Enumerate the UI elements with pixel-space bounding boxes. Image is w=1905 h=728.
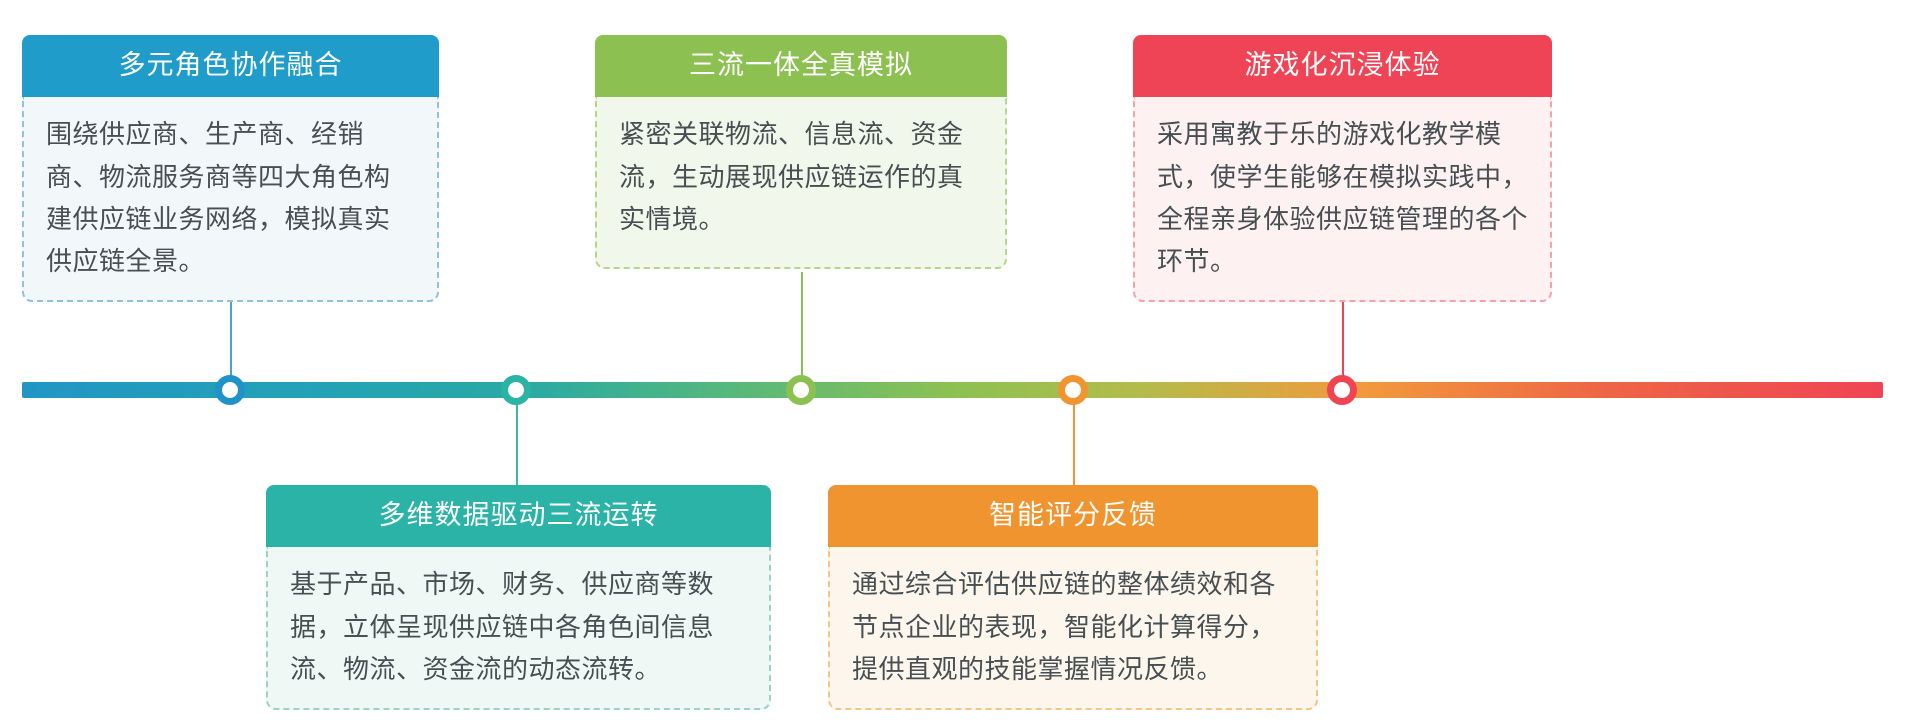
card-gamified-text: 采用寓教于乐的游戏化教学模式，使学生能够在模拟实践中，全程亲身体验供应链管理的各… — [1157, 113, 1528, 281]
card-three-flows[interactable]: 三流一体全真模拟 紧密关联物流、信息流、资金流，生动展现供应链运作的真实情境。 — [595, 35, 1007, 269]
card-scoring-body: 通过综合评估供应链的整体绩效和各节点企业的表现，智能化计算得分，提供直观的技能掌… — [828, 547, 1318, 709]
timeline-axis — [22, 382, 1883, 398]
card-data-driven-text: 基于产品、市场、财务、供应商等数据，立体呈现供应链中各角色间信息流、物流、资金流… — [290, 563, 747, 689]
timeline-node-2[interactable] — [501, 375, 531, 405]
card-roles-header: 多元角色协作融合 — [22, 35, 439, 97]
card-scoring-header: 智能评分反馈 — [828, 485, 1318, 547]
card-scoring[interactable]: 智能评分反馈 通过综合评估供应链的整体绩效和各节点企业的表现，智能化计算得分，提… — [828, 485, 1318, 710]
card-data-driven-header: 多维数据驱动三流运转 — [266, 485, 771, 547]
card-three-flows-header: 三流一体全真模拟 — [595, 35, 1007, 97]
timeline-infographic: 多元角色协作融合 围绕供应商、生产商、经销商、物流服务商等四大角色构建供应链业务… — [0, 0, 1905, 728]
connector-3 — [801, 272, 803, 387]
card-three-flows-body: 紧密关联物流、信息流、资金流，生动展现供应链运作的真实情境。 — [595, 97, 1007, 269]
card-data-driven[interactable]: 多维数据驱动三流运转 基于产品、市场、财务、供应商等数据，立体呈现供应链中各角色… — [266, 485, 771, 710]
card-roles[interactable]: 多元角色协作融合 围绕供应商、生产商、经销商、物流服务商等四大角色构建供应链业务… — [22, 35, 439, 302]
card-roles-text: 围绕供应商、生产商、经销商、物流服务商等四大角色构建供应链业务网络，模拟真实供应… — [46, 113, 415, 281]
card-roles-title: 多元角色协作融合 — [119, 50, 343, 80]
card-data-driven-body: 基于产品、市场、财务、供应商等数据，立体呈现供应链中各角色间信息流、物流、资金流… — [266, 547, 771, 709]
card-scoring-title: 智能评分反馈 — [989, 500, 1157, 530]
card-scoring-text: 通过综合评估供应链的整体绩效和各节点企业的表现，智能化计算得分，提供直观的技能掌… — [852, 563, 1294, 689]
timeline-node-3[interactable] — [786, 375, 816, 405]
card-gamified-title: 游戏化沉浸体验 — [1245, 50, 1441, 80]
card-three-flows-title: 三流一体全真模拟 — [689, 50, 913, 80]
card-data-driven-title: 多维数据驱动三流运转 — [379, 500, 659, 530]
timeline-node-4[interactable] — [1058, 375, 1088, 405]
card-three-flows-text: 紧密关联物流、信息流、资金流，生动展现供应链运作的真实情境。 — [619, 113, 983, 239]
card-gamified-body: 采用寓教于乐的游戏化教学模式，使学生能够在模拟实践中，全程亲身体验供应链管理的各… — [1133, 97, 1552, 301]
card-gamified[interactable]: 游戏化沉浸体验 采用寓教于乐的游戏化教学模式，使学生能够在模拟实践中，全程亲身体… — [1133, 35, 1552, 302]
timeline-node-1[interactable] — [215, 375, 245, 405]
timeline-node-5[interactable] — [1327, 375, 1357, 405]
card-gamified-header: 游戏化沉浸体验 — [1133, 35, 1552, 97]
card-roles-body: 围绕供应商、生产商、经销商、物流服务商等四大角色构建供应链业务网络，模拟真实供应… — [22, 97, 439, 301]
